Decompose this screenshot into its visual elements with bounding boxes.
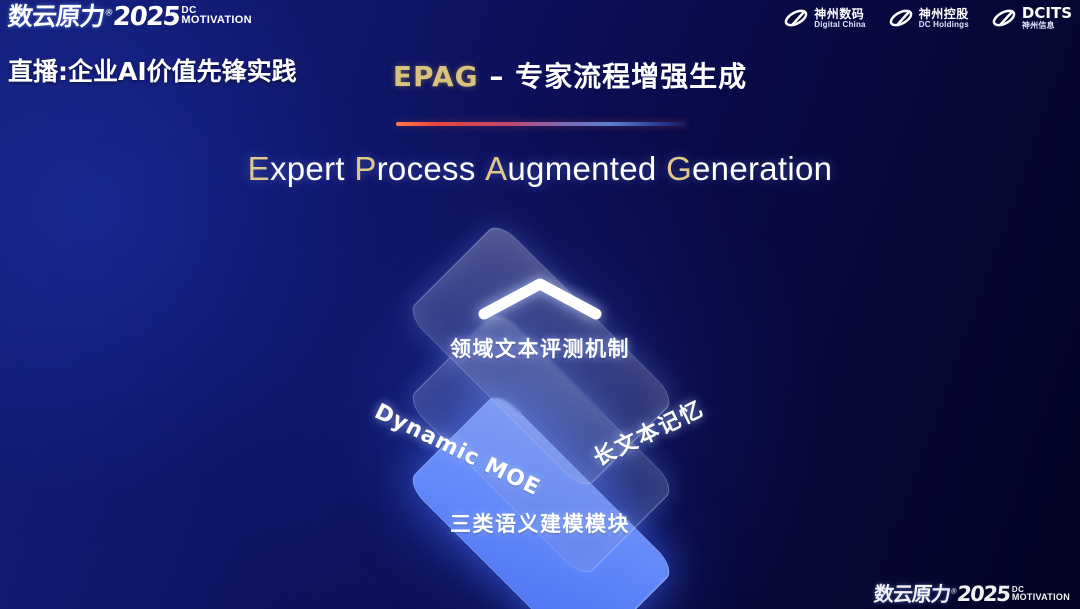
watermark-logo: 数云原力® 2025 DC MOTIVATION [874, 584, 1070, 605]
chevron-up-icon [478, 276, 602, 320]
watermark-year: 2025 [956, 584, 1011, 605]
layer-stack-diagram: 领域文本评测机制 Dynamic MOE 长文本记忆 三类语义建模模块 [0, 0, 1080, 609]
layer-label-top: 领域文本评测机制 [0, 333, 1080, 363]
watermark-dc-line2: MOTIVATION [1012, 593, 1070, 602]
layer-label-bottom: 三类语义建模模块 [0, 508, 1080, 538]
watermark-dc-motivation: DC MOTIVATION [1012, 584, 1070, 602]
slide-canvas: 数云原力® 2025 DC MOTIVATION 直播:企业AI价值先锋实践 神… [0, 0, 1080, 609]
watermark-name-cn: 数云原力® [873, 584, 957, 604]
